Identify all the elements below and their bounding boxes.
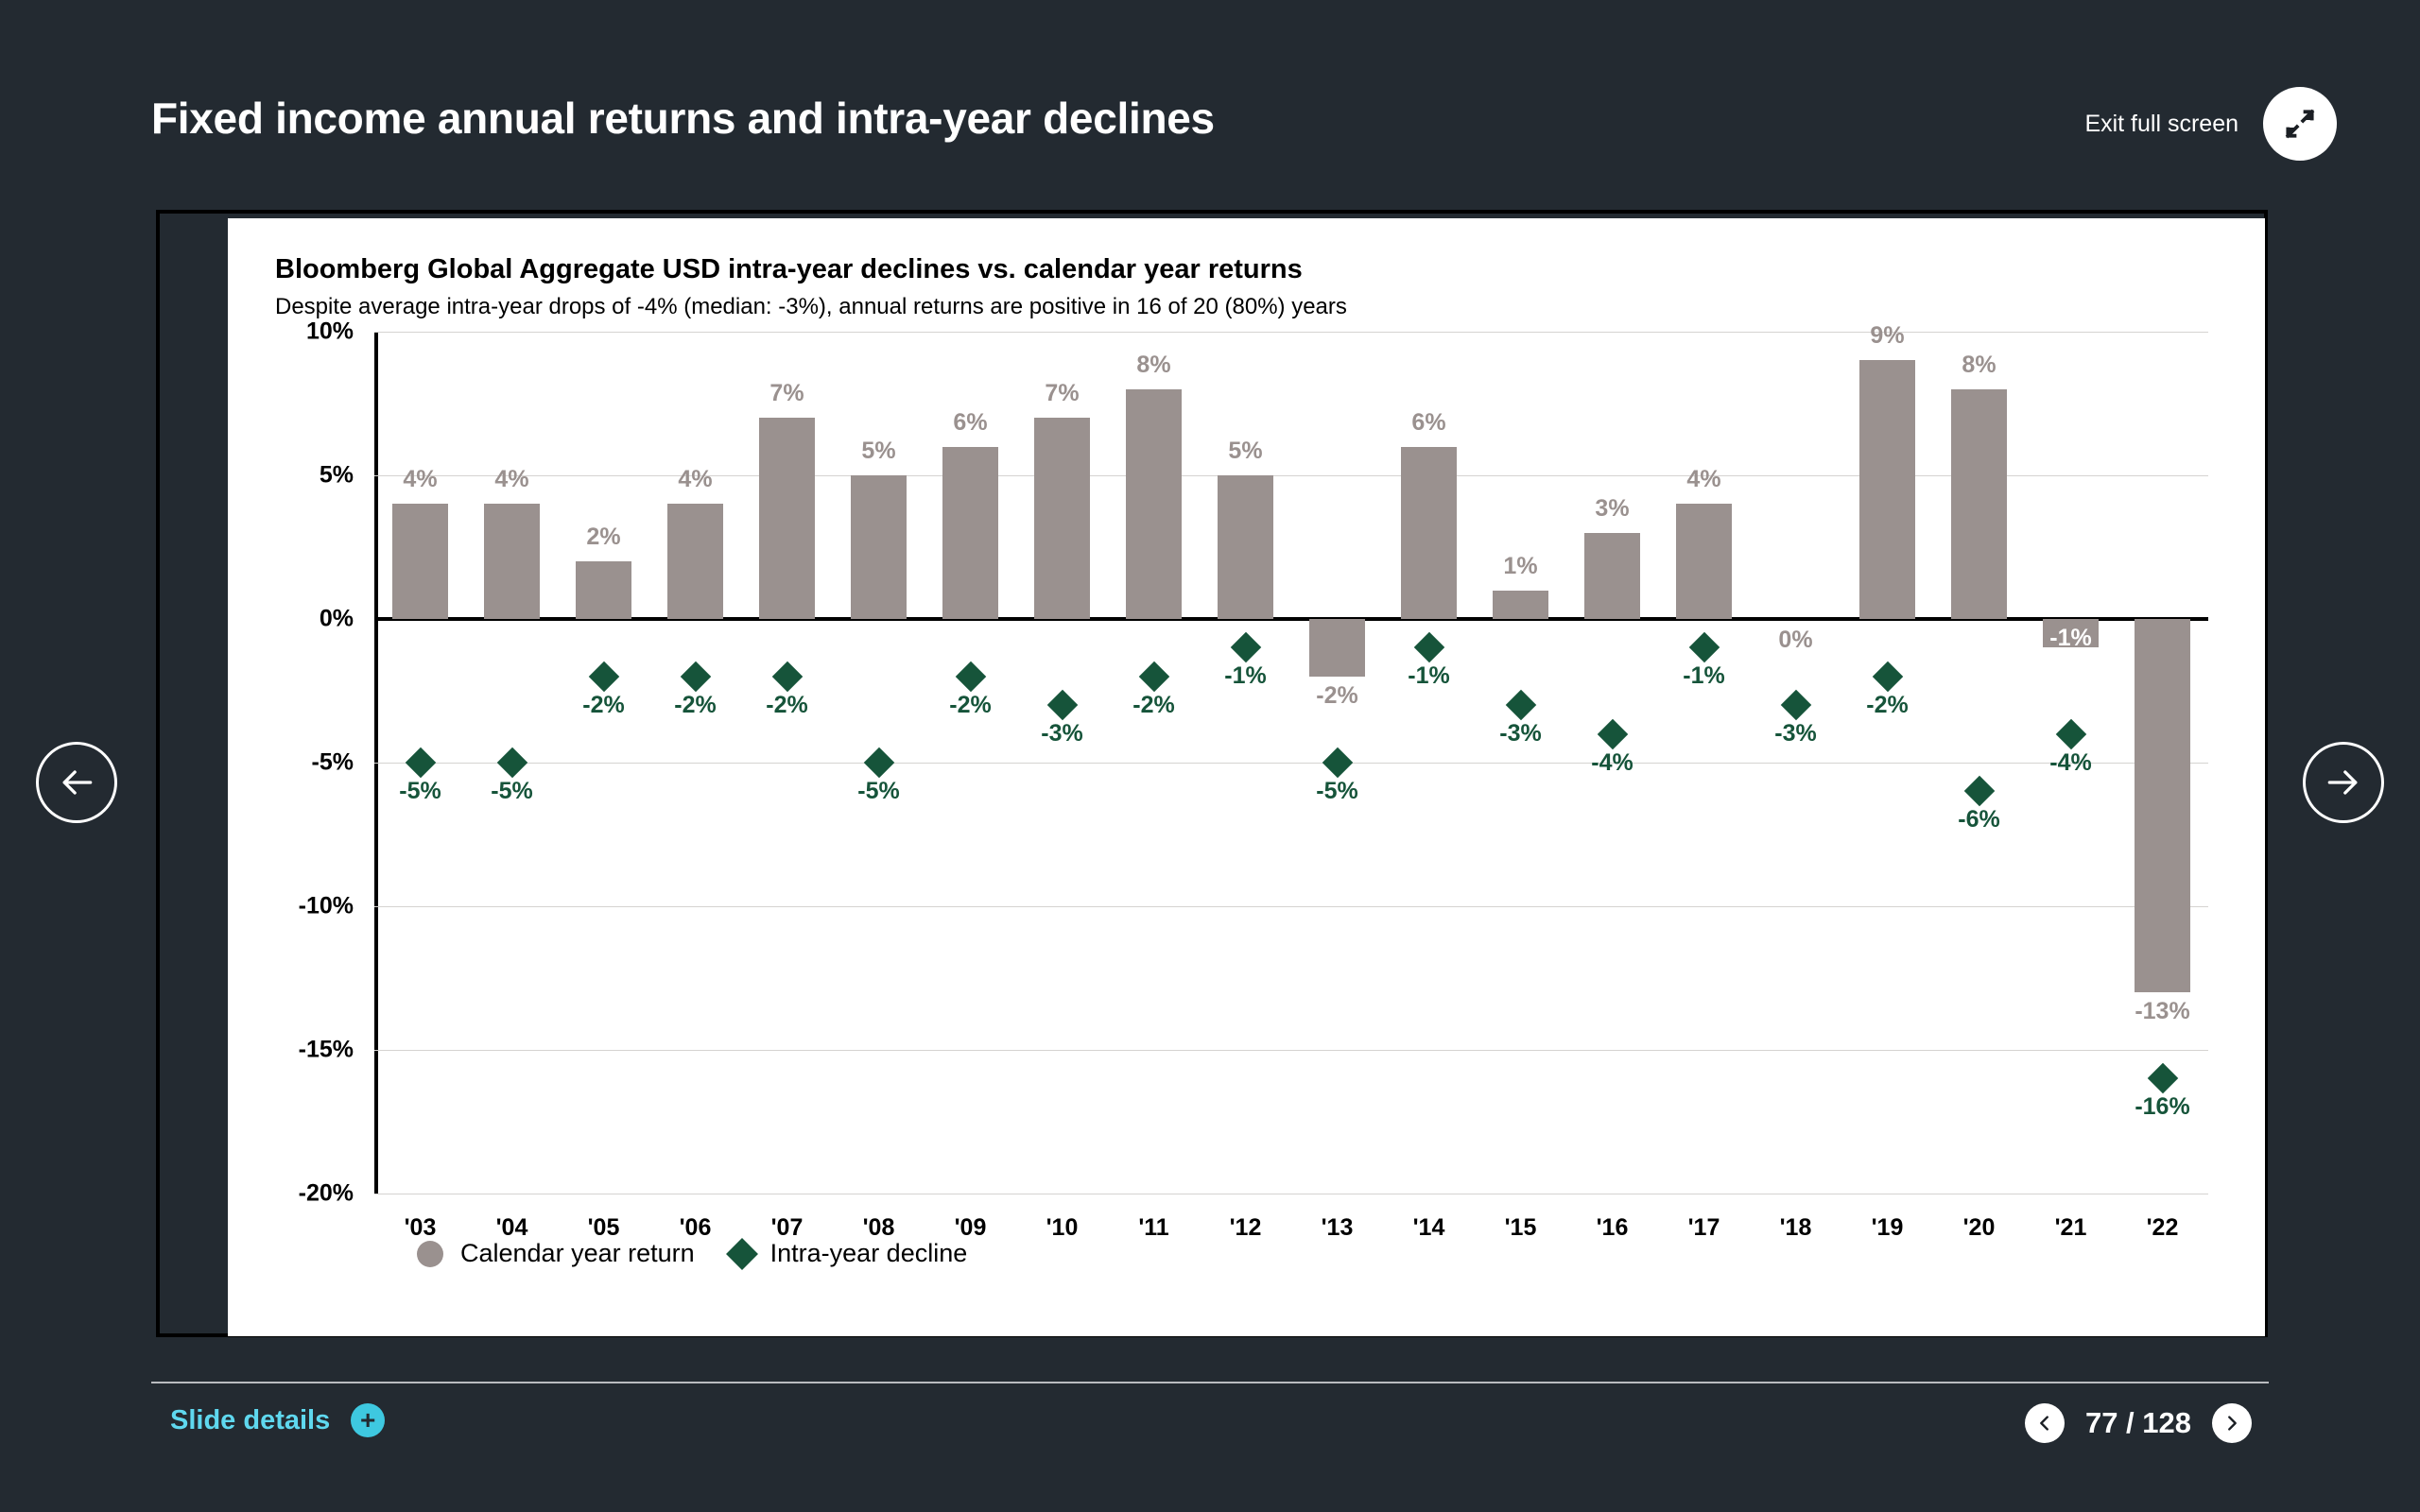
bar-value-label: 8% bbox=[1962, 352, 1996, 379]
chart-plot-area: 10%5%0%-5%-10%-15%-20%'034%-5%'044%-5%'0… bbox=[374, 332, 2208, 1194]
bar-value-label: -2% bbox=[1316, 682, 1357, 710]
footer-divider bbox=[151, 1382, 2269, 1383]
marker-intra-year-decline bbox=[863, 747, 894, 779]
legend-label: Intra-year decline bbox=[770, 1239, 968, 1268]
x-axis-tick-label: '10 bbox=[1046, 1214, 1079, 1242]
previous-slide-button[interactable] bbox=[36, 742, 117, 823]
fullscreen-slide-viewer: Fixed income annual returns and intra-ye… bbox=[0, 0, 2420, 1512]
bar-value-label: -1% bbox=[2049, 625, 2091, 652]
marker-intra-year-decline bbox=[1688, 632, 1720, 663]
marker-value-label: -6% bbox=[1958, 806, 1999, 833]
bar-calendar-year-return bbox=[2135, 619, 2189, 992]
bar-calendar-year-return bbox=[1401, 447, 1456, 619]
bar-value-label: 1% bbox=[1503, 553, 1537, 580]
y-axis-tick-label: -10% bbox=[299, 893, 354, 920]
x-axis-tick-label: '13 bbox=[1322, 1214, 1354, 1242]
bar-value-label: -13% bbox=[2135, 998, 2189, 1025]
bar-calendar-year-return bbox=[942, 447, 997, 619]
slide-frame: Bloomberg Global Aggregate USD intra-yea… bbox=[156, 210, 2268, 1337]
arrow-right-icon bbox=[2323, 762, 2364, 803]
bar-calendar-year-return bbox=[1493, 591, 1547, 619]
marker-intra-year-decline bbox=[1138, 661, 1169, 693]
x-axis-tick-label: '05 bbox=[588, 1214, 620, 1242]
gridline bbox=[374, 1050, 2208, 1051]
marker-value-label: -5% bbox=[399, 778, 441, 805]
marker-value-label: -1% bbox=[1408, 662, 1449, 690]
gridline bbox=[374, 475, 2208, 476]
y-axis-tick-label: -20% bbox=[299, 1180, 354, 1208]
header: Fixed income annual returns and intra-ye… bbox=[0, 0, 2420, 203]
x-axis-tick-label: '17 bbox=[1688, 1214, 1720, 1242]
x-axis-tick-label: '19 bbox=[1872, 1214, 1904, 1242]
bar-value-label: 4% bbox=[1686, 466, 1720, 493]
marker-intra-year-decline bbox=[1413, 632, 1444, 663]
exit-fullscreen-label: Exit full screen bbox=[2084, 111, 2238, 138]
marker-value-label: -5% bbox=[857, 778, 899, 805]
marker-intra-year-decline bbox=[1230, 632, 1261, 663]
exit-fullscreen-control[interactable]: Exit full screen bbox=[2084, 87, 2337, 161]
bar-value-label: 5% bbox=[1228, 438, 1262, 465]
x-axis-tick-label: '04 bbox=[496, 1214, 528, 1242]
slide-details-label: Slide details bbox=[170, 1405, 330, 1436]
exit-fullscreen-button[interactable] bbox=[2263, 87, 2337, 161]
marker-intra-year-decline bbox=[1780, 690, 1811, 721]
x-axis-tick-label: '22 bbox=[2147, 1214, 2179, 1242]
gridline bbox=[374, 763, 2208, 764]
marker-intra-year-decline bbox=[588, 661, 619, 693]
y-axis-tick-label: -5% bbox=[312, 749, 354, 777]
slide-pager: 77 / 128 bbox=[2025, 1403, 2252, 1443]
bar-calendar-year-return bbox=[576, 561, 631, 619]
bar-calendar-year-return bbox=[1309, 619, 1364, 677]
pager-next-button[interactable] bbox=[2212, 1403, 2252, 1443]
slide-details-toggle[interactable]: Slide details + bbox=[170, 1403, 385, 1437]
marker-value-label: -1% bbox=[1224, 662, 1266, 690]
next-slide-button[interactable] bbox=[2303, 742, 2384, 823]
compress-arrows-icon bbox=[2282, 106, 2318, 142]
marker-intra-year-decline bbox=[955, 661, 986, 693]
chart-subtitle: Despite average intra-year drops of -4% … bbox=[275, 294, 1347, 320]
bar-calendar-year-return bbox=[1584, 533, 1639, 619]
marker-intra-year-decline bbox=[1597, 718, 1628, 749]
marker-value-label: -2% bbox=[1132, 692, 1174, 719]
y-axis-tick-label: 5% bbox=[320, 462, 354, 490]
marker-value-label: -2% bbox=[582, 692, 624, 719]
marker-value-label: -2% bbox=[1866, 692, 1908, 719]
gridline bbox=[374, 332, 2208, 333]
circle-marker-icon bbox=[417, 1241, 443, 1267]
x-axis-tick-label: '16 bbox=[1597, 1214, 1629, 1242]
chevron-left-icon bbox=[2034, 1413, 2055, 1434]
page-indicator: 77 / 128 bbox=[2085, 1406, 2191, 1440]
bar-calendar-year-return bbox=[1218, 475, 1272, 619]
bar-calendar-year-return bbox=[1676, 504, 1731, 619]
marker-value-label: -4% bbox=[1591, 749, 1633, 777]
gridline bbox=[374, 906, 2208, 907]
chart-legend: Calendar year return Intra-year decline bbox=[417, 1239, 967, 1268]
x-axis-tick-label: '08 bbox=[863, 1214, 895, 1242]
bar-value-label: 4% bbox=[403, 466, 437, 493]
bar-calendar-year-return bbox=[1034, 418, 1089, 619]
marker-intra-year-decline bbox=[2147, 1063, 2178, 1094]
marker-value-label: -2% bbox=[949, 692, 991, 719]
pager-previous-button[interactable] bbox=[2025, 1403, 2065, 1443]
bar-value-label: 2% bbox=[586, 524, 620, 551]
bar-calendar-year-return bbox=[759, 418, 814, 619]
plus-icon[interactable]: + bbox=[351, 1403, 385, 1437]
marker-intra-year-decline bbox=[405, 747, 436, 779]
bar-value-label: 6% bbox=[1411, 409, 1445, 437]
y-axis-tick-label: 10% bbox=[306, 318, 354, 346]
legend-label: Calendar year return bbox=[460, 1239, 695, 1268]
bar-calendar-year-return bbox=[1126, 389, 1181, 619]
marker-value-label: -3% bbox=[1774, 720, 1816, 747]
x-axis-tick-label: '21 bbox=[2055, 1214, 2087, 1242]
chevron-right-icon bbox=[2221, 1413, 2242, 1434]
bar-value-label: 0% bbox=[1778, 627, 1812, 654]
gridline bbox=[374, 1194, 2208, 1194]
chart-title: Bloomberg Global Aggregate USD intra-yea… bbox=[275, 254, 1303, 285]
marker-intra-year-decline bbox=[1322, 747, 1353, 779]
marker-value-label: -3% bbox=[1499, 720, 1541, 747]
bar-calendar-year-return bbox=[851, 475, 906, 619]
marker-intra-year-decline bbox=[1872, 661, 1903, 693]
marker-value-label: -16% bbox=[2135, 1093, 2189, 1121]
x-axis-tick-label: '14 bbox=[1413, 1214, 1445, 1242]
x-axis-tick-label: '06 bbox=[680, 1214, 712, 1242]
bar-calendar-year-return bbox=[667, 504, 722, 619]
marker-value-label: -1% bbox=[1683, 662, 1724, 690]
bar-calendar-year-return bbox=[1951, 389, 2006, 619]
x-axis-tick-label: '09 bbox=[955, 1214, 987, 1242]
marker-intra-year-decline bbox=[771, 661, 803, 693]
x-axis-tick-label: '18 bbox=[1780, 1214, 1812, 1242]
marker-intra-year-decline bbox=[680, 661, 711, 693]
marker-value-label: -5% bbox=[491, 778, 532, 805]
bar-value-label: 5% bbox=[861, 438, 895, 465]
bar-value-label: 8% bbox=[1136, 352, 1170, 379]
marker-intra-year-decline bbox=[1505, 690, 1536, 721]
bar-value-label: 7% bbox=[769, 380, 804, 407]
marker-intra-year-decline bbox=[496, 747, 527, 779]
slide-canvas: Bloomberg Global Aggregate USD intra-yea… bbox=[228, 218, 2265, 1336]
x-axis-tick-label: '03 bbox=[405, 1214, 437, 1242]
legend-item-intra-year-decline: Intra-year decline bbox=[731, 1239, 968, 1268]
bar-value-label: 6% bbox=[953, 409, 987, 437]
y-axis-tick-label: 0% bbox=[320, 606, 354, 633]
marker-intra-year-decline bbox=[2055, 718, 2086, 749]
marker-value-label: -2% bbox=[766, 692, 807, 719]
zero-line bbox=[374, 617, 2208, 621]
marker-value-label: -5% bbox=[1316, 778, 1357, 805]
legend-item-calendar-year-return: Calendar year return bbox=[417, 1239, 695, 1268]
diamond-marker-icon bbox=[726, 1238, 758, 1270]
marker-value-label: -2% bbox=[674, 692, 716, 719]
bar-calendar-year-return bbox=[484, 504, 539, 619]
bar-value-label: 9% bbox=[1870, 322, 1904, 350]
marker-intra-year-decline bbox=[1046, 690, 1078, 721]
x-axis-tick-label: '20 bbox=[1963, 1214, 1996, 1242]
marker-value-label: -3% bbox=[1041, 720, 1082, 747]
bar-value-label: 4% bbox=[494, 466, 528, 493]
bar-value-label: 4% bbox=[678, 466, 712, 493]
bar-calendar-year-return bbox=[1859, 360, 1914, 619]
page-title: Fixed income annual returns and intra-ye… bbox=[151, 93, 1215, 144]
x-axis-tick-label: '15 bbox=[1505, 1214, 1537, 1242]
bar-calendar-year-return bbox=[392, 504, 447, 619]
marker-value-label: -4% bbox=[2049, 749, 2091, 777]
y-axis-tick-label: -15% bbox=[299, 1037, 354, 1064]
bar-value-label: 3% bbox=[1595, 495, 1629, 523]
x-axis-tick-label: '12 bbox=[1230, 1214, 1262, 1242]
x-axis-tick-label: '11 bbox=[1138, 1214, 1168, 1242]
bar-value-label: 7% bbox=[1045, 380, 1079, 407]
x-axis-tick-label: '07 bbox=[771, 1214, 804, 1242]
marker-intra-year-decline bbox=[1963, 776, 1995, 807]
arrow-left-icon bbox=[56, 762, 97, 803]
